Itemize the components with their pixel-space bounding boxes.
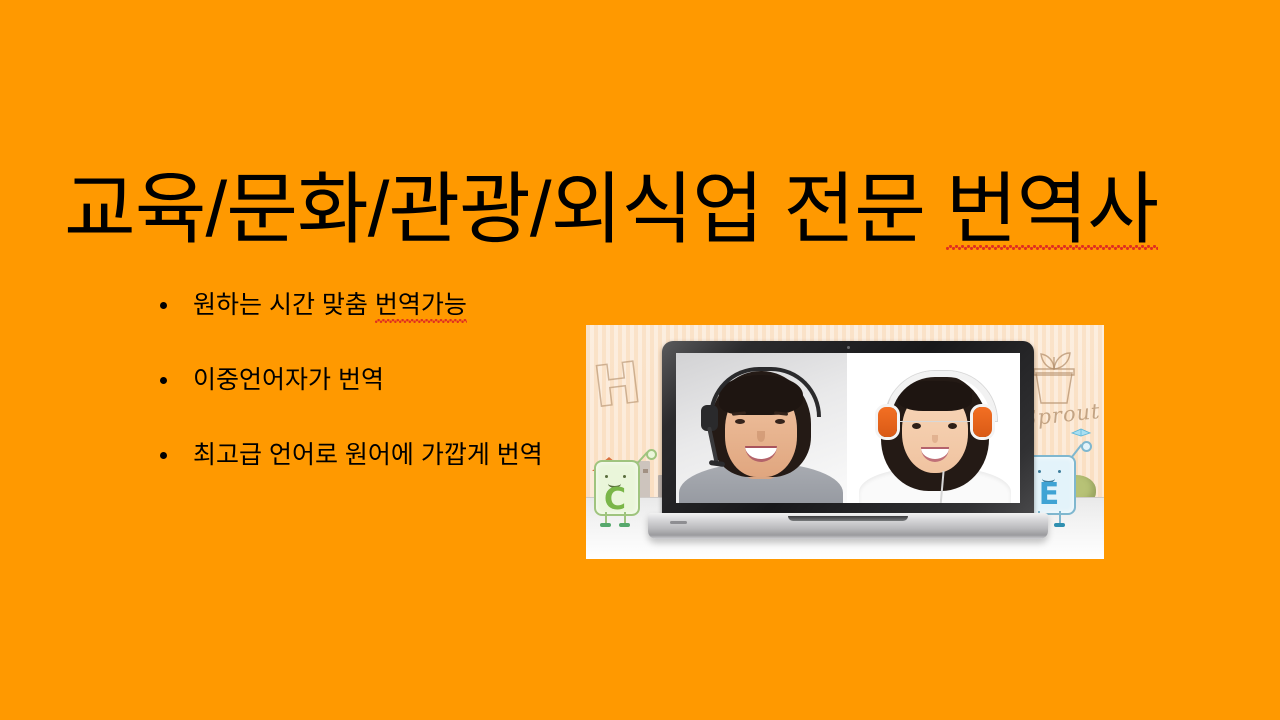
list-item-label: 이중언어자가 번역	[193, 366, 384, 394]
list-item: 원하는 시간 맞춤 번역가능	[156, 288, 586, 363]
bullet-dot-icon	[160, 377, 167, 384]
bullet-dot-icon	[160, 302, 167, 309]
laptop-screen	[676, 353, 1020, 503]
bird-illustration-icon	[1070, 425, 1092, 439]
slide-image: H Sprout	[586, 325, 1104, 559]
bullet-dot-icon	[160, 452, 167, 459]
mascot-c-letter: C	[594, 482, 636, 517]
bullet-list: 원하는 시간 맞춤 번역가능 이중언어자가 번역 최고급 언어로 원어에 가깝게…	[156, 288, 586, 513]
headset-mic-icon	[709, 460, 726, 467]
laptop-lid	[662, 341, 1034, 519]
headset-band-icon	[709, 367, 821, 417]
doodle-letter-h: H	[590, 350, 644, 420]
mascot-c-character: C	[592, 450, 648, 534]
video-pane-woman	[676, 353, 847, 503]
list-item-misspelled-word: 번역가능	[375, 288, 467, 322]
list-item: 이중언어자가 번역	[156, 363, 586, 438]
laptop-base	[648, 513, 1048, 539]
headphone-earcup-right-icon	[973, 407, 992, 437]
laptop-port-icon	[670, 521, 687, 524]
laptop-hinge-notch	[788, 516, 908, 521]
slide: 교육/문화/관광/외식업 전문 번역사 원하는 시간 맞춤 번역가능 이중언어자…	[0, 0, 1280, 720]
page-title-plain: 교육/문화/관광/외식업 전문	[64, 165, 946, 253]
list-item-label: 최고급 언어로 원어에 가깝게 번역	[193, 441, 543, 469]
list-item: 최고급 언어로 원어에 가깝게 번역	[156, 438, 586, 513]
headphone-earcup-left-icon	[878, 407, 897, 437]
list-item-label: 원하는 시간 맞춤	[193, 291, 375, 319]
video-pane-girl	[850, 353, 1021, 503]
laptop-illustration	[648, 341, 1048, 549]
page-title: 교육/문화/관광/외식업 전문 번역사	[64, 170, 1234, 248]
webcam-icon	[847, 346, 850, 349]
page-title-misspelled-word: 번역사	[946, 170, 1158, 248]
